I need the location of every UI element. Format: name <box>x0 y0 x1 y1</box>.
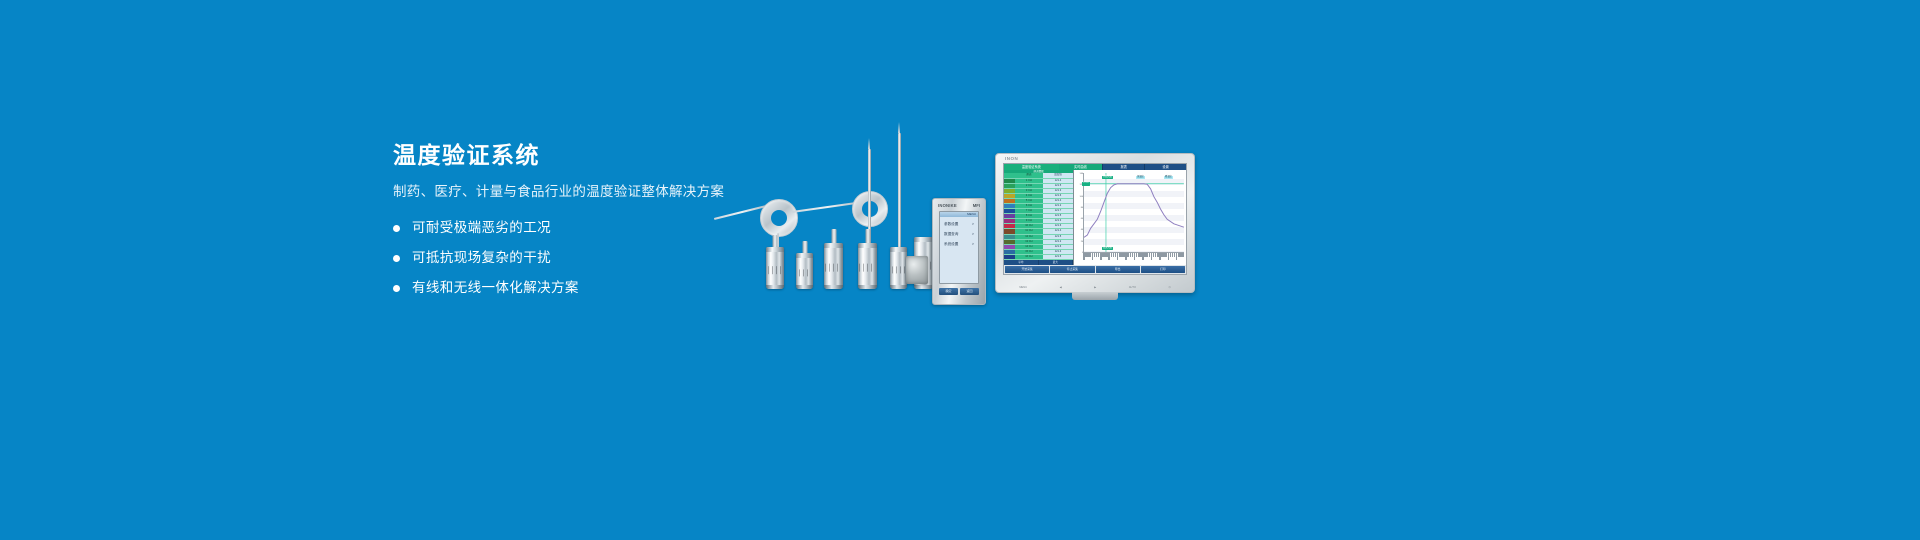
channel-value-cell: 121.5 <box>1043 184 1073 188</box>
channel-name-cell: 8 CH <box>1015 214 1043 218</box>
channel-name-cell: 2 CH <box>1015 184 1043 188</box>
monitor-bezel-controls: MENU◀▶AUTO⏻ <box>1003 284 1187 290</box>
channel-color-swatch <box>1004 235 1015 239</box>
channel-color-swatch <box>1004 209 1015 213</box>
needle-probe-taller <box>898 133 901 261</box>
handheld-menu-label: 系统设置 <box>944 242 958 247</box>
handheld-menu-label: 参数设置 <box>944 222 958 227</box>
dot-bullet-icon <box>393 255 400 262</box>
data-logger-2 <box>796 253 813 289</box>
channel-color-swatch <box>1004 229 1015 233</box>
sensor-coil-1 <box>760 199 798 237</box>
column-header-value: 温度值 <box>1043 173 1073 177</box>
channel-name-cell: 11 CH <box>1015 229 1043 233</box>
hero-banner: 温度验证系统 制药、医疗、计量与食品行业的温度验证整体解决方案 可耐受极端恶劣的… <box>0 0 1920 540</box>
channel-value-cell: 121.4 <box>1043 250 1073 254</box>
marker-end-sterilization: 结束灭菌 <box>1102 247 1113 250</box>
channel-name-cell: 10 CH <box>1015 224 1043 228</box>
handheld-menu-row[interactable]: 系统设置 > <box>940 242 978 247</box>
chart-x-axis-ticks <box>1083 253 1184 260</box>
y-axis-tick-label: 100 <box>1080 196 1084 198</box>
data-logger-1 <box>766 247 784 289</box>
channel-name-cell: 13 CH <box>1015 240 1043 244</box>
temperature-chart: 140120100806040200 开始灭菌 121.0 结束灭菌 保温段 降… <box>1074 170 1186 265</box>
software-body: 通道数据 通道 温度值 1 CH121.42 CH121.53 CH121.34… <box>1004 170 1186 265</box>
software-screen: 温度验证系统 实时曲线 报表 设置 通道数据 通道 温度值 1 CH1 <box>1003 163 1187 275</box>
product-photo-group: INONIKE MFI MENU 参数设置 > 数据查询 > 系统设置 > 确定 <box>700 125 1220 310</box>
channel-color-swatch <box>1004 214 1015 218</box>
channel-name-cell: 6 CH <box>1015 204 1043 208</box>
channel-color-swatch <box>1004 184 1015 188</box>
monitor-bezel-button[interactable]: MENU <box>1019 286 1027 289</box>
y-axis-tick-label: 40 <box>1081 229 1083 231</box>
channel-color-swatch <box>1004 255 1015 259</box>
channel-name-cell: 9 CH <box>1015 219 1043 223</box>
channel-value-cell: 121.5 <box>1043 214 1073 218</box>
handheld-screen-title: MENU <box>940 212 978 217</box>
channel-color-swatch <box>1004 204 1015 208</box>
chevron-right-icon: > <box>972 232 974 237</box>
handheld-menu-row[interactable]: 数据查询 > <box>940 232 978 237</box>
channel-name-cell: 7 CH <box>1015 209 1043 213</box>
y-axis-tick-label: 80 <box>1081 207 1083 209</box>
channel-value-cell: 121.4 <box>1043 179 1073 183</box>
channel-color-swatch <box>1004 194 1015 198</box>
export-button[interactable]: 导出 <box>1096 266 1140 273</box>
handheld-ok-key[interactable]: 确定 <box>939 288 958 295</box>
channel-color-swatch <box>1004 250 1015 254</box>
channel-color-swatch <box>1004 179 1015 183</box>
handheld-reader-device: INONIKE MFI MENU 参数设置 > 数据查询 > 系统设置 > 确定 <box>932 198 986 305</box>
channel-name-cell: 5 CH <box>1015 199 1043 203</box>
x-axis-tick <box>1182 253 1184 257</box>
monitor-stand <box>1072 292 1118 300</box>
chart-plot-area: 140120100806040200 开始灭菌 121.0 结束灭菌 保温段 降… <box>1083 173 1184 253</box>
data-logger-3 <box>824 243 843 289</box>
monitor-bezel-button[interactable]: ◀ <box>1060 286 1062 289</box>
data-logger-5 <box>890 247 907 289</box>
handheld-menu-label: 数据查询 <box>944 232 958 237</box>
channel-name-cell: 3 CH <box>1015 189 1043 193</box>
channel-color-swatch <box>1004 189 1015 193</box>
start-acquisition-button[interactable]: 开始采集 <box>1005 266 1049 273</box>
channel-value-cell: 121.2 <box>1043 204 1073 208</box>
feature-label: 有线和无线一体化解决方案 <box>412 279 579 297</box>
software-action-bar: 开始采集 停止采集 导出 打印 <box>1004 265 1186 274</box>
channel-color-swatch <box>1004 245 1015 249</box>
channel-name-cell: 15 CH <box>1015 250 1043 254</box>
marker-cooldown-phase: 降温段 <box>1164 176 1173 179</box>
chart-curve-svg <box>1084 173 1184 252</box>
channel-value-cell: 121.3 <box>1043 189 1073 193</box>
chevron-right-icon: > <box>972 222 974 227</box>
marker-start-sterilization: 开始灭菌 <box>1102 176 1113 179</box>
handheld-screen: MENU 参数设置 > 数据查询 > 系统设置 > <box>939 211 979 284</box>
channel-value-cell: 121.4 <box>1043 199 1073 203</box>
handheld-menu-row[interactable]: 参数设置 > <box>940 222 978 227</box>
column-header-channel: 通道 <box>1015 173 1043 177</box>
channel-value-cell: 121.7 <box>1043 209 1073 213</box>
channel-name-cell: 4 CH <box>1015 194 1043 198</box>
handheld-model-label: MFI <box>973 203 980 208</box>
channel-value-cell: 121.5 <box>1043 235 1073 239</box>
channel-value-cell: 121.6 <box>1043 224 1073 228</box>
channel-color-swatch <box>1004 199 1015 203</box>
print-button[interactable]: 打印 <box>1141 266 1185 273</box>
handheld-brand-label: INONIKE <box>938 203 957 208</box>
channel-name-cell: 1 CH <box>1015 179 1043 183</box>
channel-value-cell: 121.6 <box>1043 245 1073 249</box>
table-rows-container: 1 CH121.42 CH121.53 CH121.34 CH121.65 CH… <box>1004 179 1073 261</box>
handheld-keypad: 确定 返回 <box>939 288 979 295</box>
chevron-right-icon: > <box>972 242 974 247</box>
channel-value-cell: 121.3 <box>1043 219 1073 223</box>
monitor-bezel-button[interactable]: ⏻ <box>1169 286 1171 289</box>
channel-value-cell: 121.2 <box>1043 240 1073 244</box>
monitor-bezel-button[interactable]: AUTO <box>1129 286 1136 289</box>
dot-bullet-icon <box>393 285 400 292</box>
dot-bullet-icon <box>393 225 400 232</box>
y-axis-tick-label: 60 <box>1081 218 1083 220</box>
feature-label: 可抵抗现场复杂的干扰 <box>412 249 551 267</box>
sintered-filter-block <box>906 256 928 284</box>
channel-value-cell: 121.4 <box>1043 229 1073 233</box>
channel-color-swatch <box>1004 219 1015 223</box>
channel-name-cell: 12 CH <box>1015 235 1043 239</box>
y-axis-tick-label: 140 <box>1080 173 1084 175</box>
channel-data-table: 通道数据 通道 温度值 1 CH121.42 CH121.53 CH121.34… <box>1004 170 1074 265</box>
marker-hold-phase: 保温段 <box>1136 176 1145 179</box>
marker-reference-value: 121.0 <box>1082 182 1089 185</box>
monitor-display: INON 温度验证系统 实时曲线 报表 设置 通道数据 通道 <box>995 153 1195 293</box>
channel-color-swatch <box>1004 224 1015 228</box>
stop-acquisition-button[interactable]: 停止采集 <box>1050 266 1094 273</box>
monitor-brand-label: INON <box>1005 156 1018 161</box>
monitor-bezel-button[interactable]: ▶ <box>1094 286 1096 289</box>
color-swatch-header <box>1004 173 1015 177</box>
y-axis-tick-label: 20 <box>1081 241 1083 243</box>
handheld-back-key[interactable]: 返回 <box>960 288 979 295</box>
channel-value-cell: 121.5 <box>1043 255 1073 259</box>
channel-color-swatch <box>1004 240 1015 244</box>
channel-name-cell: 16 CH <box>1015 255 1043 259</box>
data-logger-4 <box>858 243 877 289</box>
channel-value-cell: 121.6 <box>1043 194 1073 198</box>
channel-name-cell: 14 CH <box>1015 245 1043 249</box>
feature-label: 可耐受极端恶劣的工况 <box>412 219 551 237</box>
